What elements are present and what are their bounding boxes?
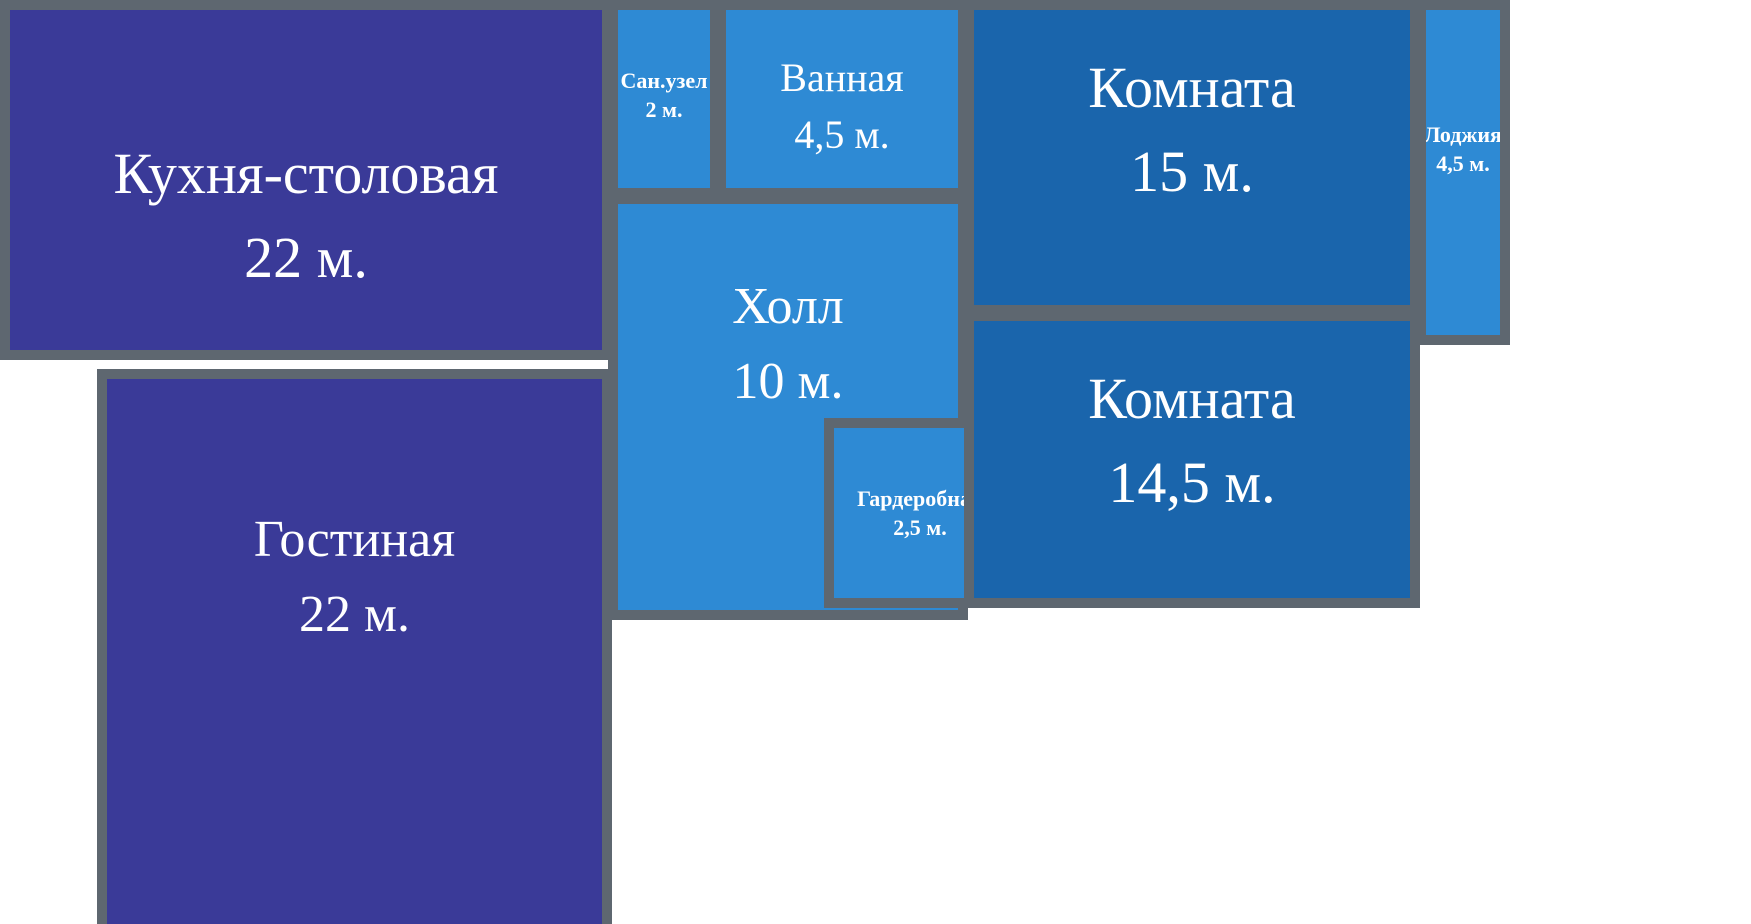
room-toilet[interactable]: Сан.узел 2 м. xyxy=(608,0,720,198)
room-label-area: 15 м. xyxy=(1130,138,1254,206)
room-bathroom[interactable]: Ванная 4,5 м. xyxy=(716,0,968,198)
room-label-name: Комната xyxy=(1088,54,1295,122)
room-label-area: 2 м. xyxy=(646,97,683,123)
room-label-area: 22 м. xyxy=(244,224,368,292)
room-label-area: 22 м. xyxy=(299,584,410,645)
room-label-area: 14,5 м. xyxy=(1108,449,1275,517)
room-label-name: Гостиная xyxy=(254,509,455,570)
room-label-area: 10 м. xyxy=(733,351,844,412)
room-living-room[interactable]: Гостиная 22 м. xyxy=(97,369,612,924)
room-label-name: Сан.узел xyxy=(620,68,707,94)
room-label-name: Кухня-столовая xyxy=(114,140,499,208)
room-label-area: 2,5 м. xyxy=(893,515,947,541)
room-kitchen-dining[interactable]: Кухня-столовая 22 м. xyxy=(0,0,612,360)
room-label-name: Комната xyxy=(1088,365,1295,433)
room-label-name: Холл xyxy=(732,276,844,337)
room-label-area: 4,5 м. xyxy=(794,111,889,158)
room-label-name: Ванная xyxy=(780,54,903,101)
room-label-name: Лоджия xyxy=(1424,122,1502,148)
room-bedroom-14-5[interactable]: Комната 14,5 м. xyxy=(964,311,1420,608)
room-bedroom-15[interactable]: Комната 15 м. xyxy=(964,0,1420,315)
room-label-area: 4,5 м. xyxy=(1436,151,1490,177)
floor-plan-diagram: Кухня-столовая 22 м. Гостиная 22 м. Сан.… xyxy=(0,0,1751,924)
room-balcony-loggia[interactable]: Лоджия 4,5 м. xyxy=(1416,0,1510,345)
